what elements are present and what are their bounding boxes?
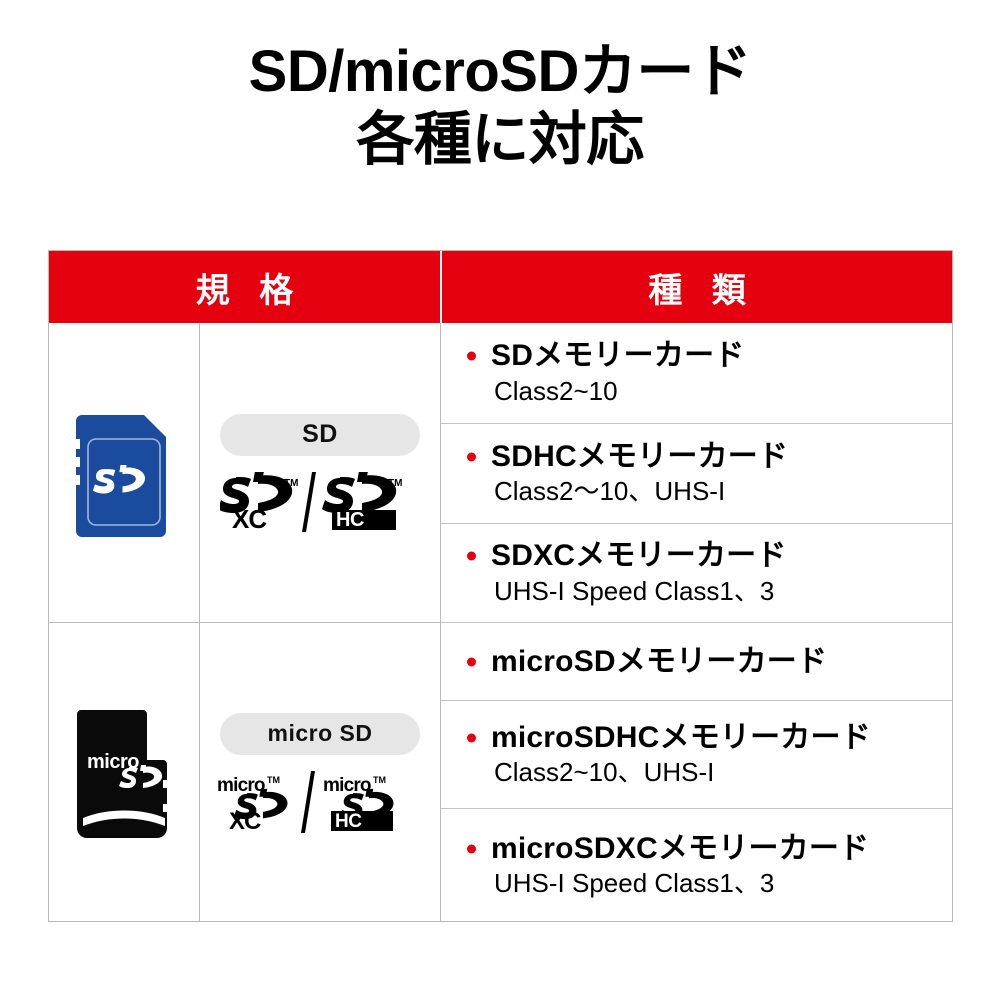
bullet-icon [467, 552, 476, 561]
sd-card-cell [49, 323, 199, 622]
table-row: microSDメモリーカード [441, 622, 952, 700]
type-title: microSDXCメモリーカード [463, 832, 952, 866]
type-title: SDHCメモリーカード [463, 440, 952, 474]
type-subtitle: UHS-I Speed Class1、3 [463, 577, 952, 607]
sdxc-sdhc-logo: XC TM HC [220, 472, 420, 532]
type-subtitle: Class2~10、UHS-I [463, 758, 952, 788]
microsd-card-cell: micro [49, 623, 199, 922]
bullet-icon [467, 844, 476, 853]
microsd-logo-cell: micro SD micro TM XC [200, 623, 440, 922]
type-title: SDメモリーカード [463, 339, 952, 373]
bullet-icon [467, 452, 476, 461]
table-row: microSDXCメモリーカード UHS-I Speed Class1、3 [441, 808, 952, 922]
svg-text:micro: micro [323, 775, 371, 796]
compatibility-table: 規 格 種 類 [48, 250, 953, 922]
type-title: microSDメモリーカード [463, 645, 952, 679]
page-title-line-2: 各種に対応 [0, 106, 1000, 174]
type-title-text: SDXCメモリーカード [491, 539, 787, 572]
type-title: SDXCメモリーカード [463, 539, 952, 573]
column-header-spec: 規 格 [49, 251, 440, 323]
table-row: SDXCメモリーカード UHS-I Speed Class1、3 [441, 523, 952, 622]
table-body: micro SD [49, 323, 952, 922]
svg-text:TM: TM [388, 478, 402, 489]
sd-pill-badge: SD [220, 414, 420, 456]
bullet-icon [467, 733, 476, 742]
svg-text:XC: XC [229, 808, 261, 833]
svg-text:TM: TM [267, 775, 280, 785]
column-types: SDメモリーカード Class2~10 SDHCメモリーカード Class2～1… [441, 323, 952, 922]
type-title-text: microSDメモリーカード [491, 645, 827, 678]
table-row: SDHCメモリーカード Class2～10、UHS-I [441, 423, 952, 523]
table-header-row: 規 格 種 類 [49, 251, 952, 323]
sd-card-icon [72, 407, 176, 539]
bullet-icon [467, 352, 476, 361]
microsdxc-microsdhc-logo: micro TM XC [215, 771, 425, 833]
type-subtitle: Class2~10 [463, 377, 952, 407]
svg-text:micro: micro [217, 775, 265, 796]
bullet-icon [467, 657, 476, 666]
svg-text:TM: TM [284, 478, 298, 489]
sd-logo-cell: SD XC TM [200, 323, 440, 622]
type-subtitle: UHS-I Speed Class1、3 [463, 869, 952, 899]
column-header-type: 種 類 [442, 251, 952, 323]
type-subtitle: Class2～10、UHS-I [463, 477, 952, 507]
type-title-text: microSDXCメモリーカード [491, 832, 869, 865]
svg-text:HC: HC [336, 509, 364, 531]
section-divider [49, 622, 441, 623]
table-row: microSDHCメモリーカード Class2~10、UHS-I [441, 700, 952, 808]
microsd-card-icon: micro [75, 706, 173, 840]
type-title-text: SDHCメモリーカード [491, 440, 788, 473]
svg-text:XC: XC [232, 504, 267, 532]
type-title-text: microSDHCメモリーカード [491, 721, 871, 754]
microsd-pill-badge: micro SD [220, 713, 420, 755]
svg-text:TM: TM [373, 775, 386, 785]
type-title-text: SDメモリーカード [491, 339, 744, 372]
table-row: SDメモリーカード Class2~10 [441, 323, 952, 423]
page-title-line-1: SD/microSDカード [0, 38, 1000, 106]
svg-text:HC: HC [335, 811, 362, 832]
type-title: microSDHCメモリーカード [463, 721, 952, 755]
page-title: SD/microSDカード 各種に対応 [0, 38, 1000, 175]
